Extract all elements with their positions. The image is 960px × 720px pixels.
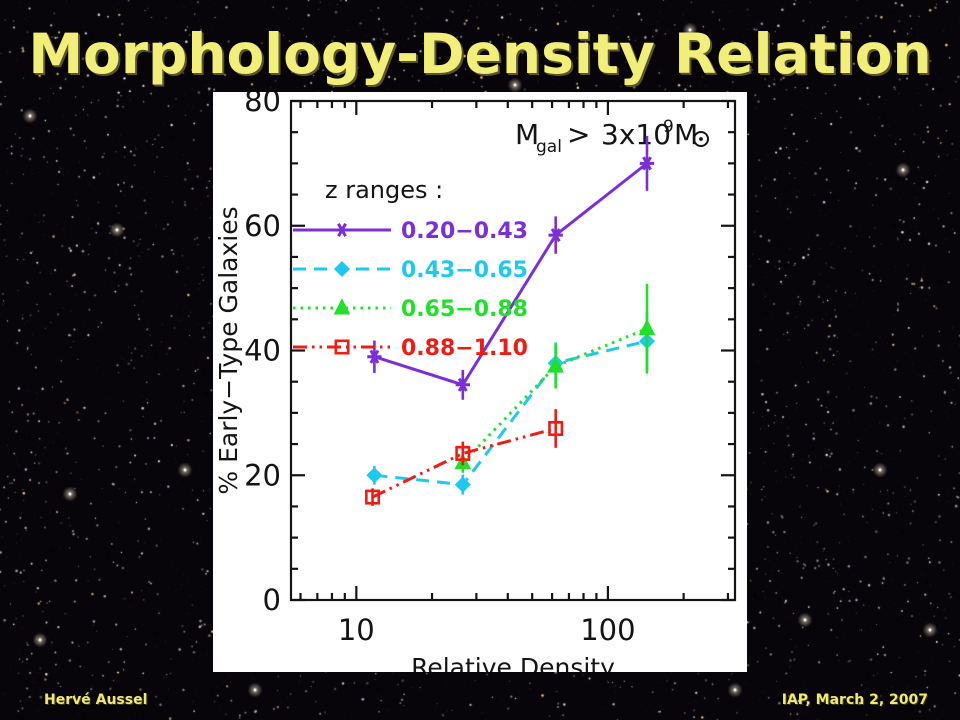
footer-author: Hervé Aussel <box>44 692 147 708</box>
morphology-density-plot: 10100Relative Density020406080% Early−Ty… <box>213 92 747 672</box>
mass-annotation: Mgal>3x109M <box>515 117 708 157</box>
data-marker-star <box>335 224 349 236</box>
y-tick-label: 80 <box>244 92 281 118</box>
data-marker-diamond <box>335 262 348 275</box>
legend-item-3[interactable]: 0.88−1.10 <box>293 336 528 361</box>
x-axis-title: Relative Density <box>411 653 615 672</box>
legend-label: 0.65−0.88 <box>401 297 528 322</box>
y-tick-label: 40 <box>244 334 281 368</box>
sun-symbol-dot-icon <box>699 137 703 141</box>
footer-venue-date: IAP, March 2, 2007 <box>782 692 928 708</box>
legend-item-0[interactable]: 0.20−0.43 <box>293 219 528 244</box>
annot-gt: > <box>567 118 590 151</box>
y-tick-label: 20 <box>244 458 281 492</box>
legend-label: 0.43−0.65 <box>401 258 528 283</box>
legend-item-1[interactable]: 0.43−0.65 <box>293 258 528 283</box>
legend-label: 0.20−0.43 <box>401 219 528 244</box>
legend-item-2[interactable]: 0.65−0.88 <box>293 297 528 322</box>
data-marker-triangle <box>640 321 653 334</box>
legend-label: 0.88−1.10 <box>401 336 528 361</box>
annot-exponent: 9 <box>663 117 674 137</box>
chart-figure: 10100Relative Density020406080% Early−Ty… <box>213 92 747 672</box>
legend-title: z ranges : <box>325 176 443 204</box>
data-marker-diamond <box>368 469 381 482</box>
y-tick-label: 0 <box>263 583 281 617</box>
slide-canvas: Morphology-Density Relation 10100Relativ… <box>0 0 960 720</box>
annot-gal: gal <box>536 137 562 157</box>
page-title: Morphology-Density Relation <box>0 22 960 86</box>
x-tick-label: 100 <box>580 613 635 647</box>
y-tick-label: 60 <box>244 209 281 243</box>
x-tick-label: 10 <box>338 613 375 647</box>
y-axis-title: % Early−Type Galaxies <box>214 206 243 494</box>
annot-3x10: 3x10 <box>601 118 671 151</box>
